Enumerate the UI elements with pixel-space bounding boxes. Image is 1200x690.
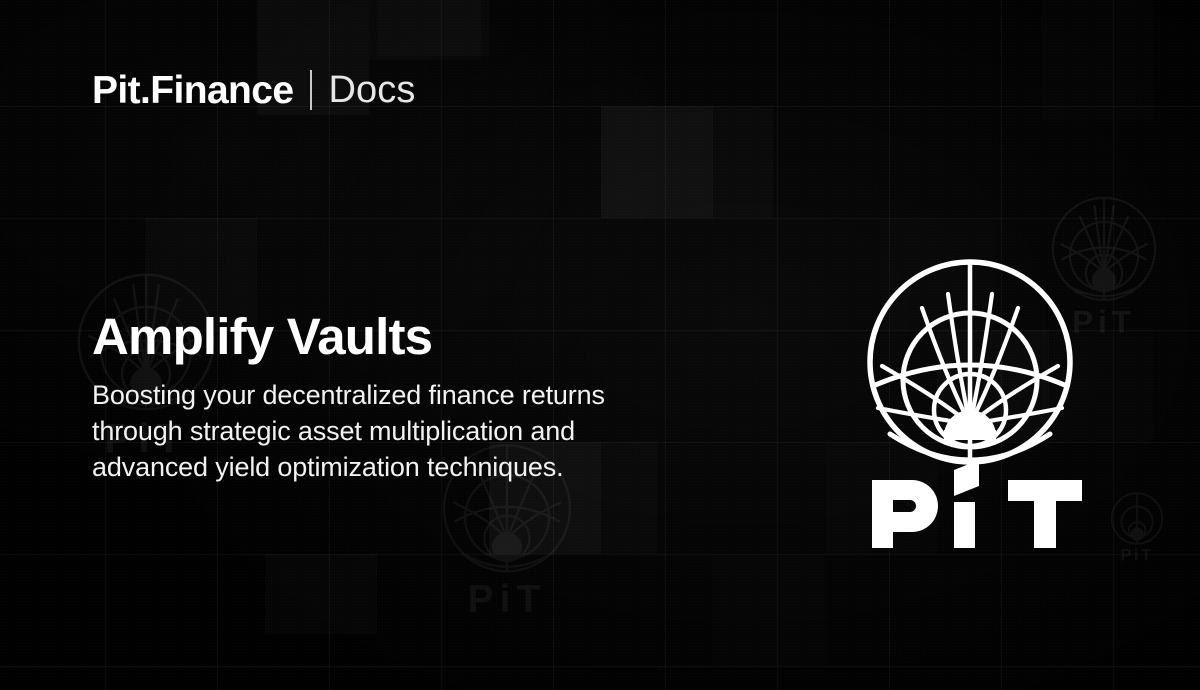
pit-logo[interactable]	[856, 258, 1084, 548]
header-divider-icon	[310, 70, 312, 110]
svg-text:PiT: PiT	[468, 578, 547, 621]
page-title: Amplify Vaults	[92, 310, 792, 363]
watermark-logo-bottom-right: PiT	[1107, 488, 1167, 564]
site-header: Pit.Finance Docs	[92, 70, 415, 110]
logo-wordmark	[872, 460, 1082, 548]
hero-banner: PiT PiT	[0, 0, 1200, 690]
brand-name[interactable]: Pit.Finance	[92, 71, 293, 110]
svg-text:PiT: PiT	[1120, 546, 1153, 565]
page-subtitle: Boosting your decentralized finance retu…	[92, 377, 792, 485]
section-label-docs[interactable]: Docs	[328, 71, 415, 109]
hero-content: Amplify Vaults Boosting your decentraliz…	[92, 310, 792, 485]
